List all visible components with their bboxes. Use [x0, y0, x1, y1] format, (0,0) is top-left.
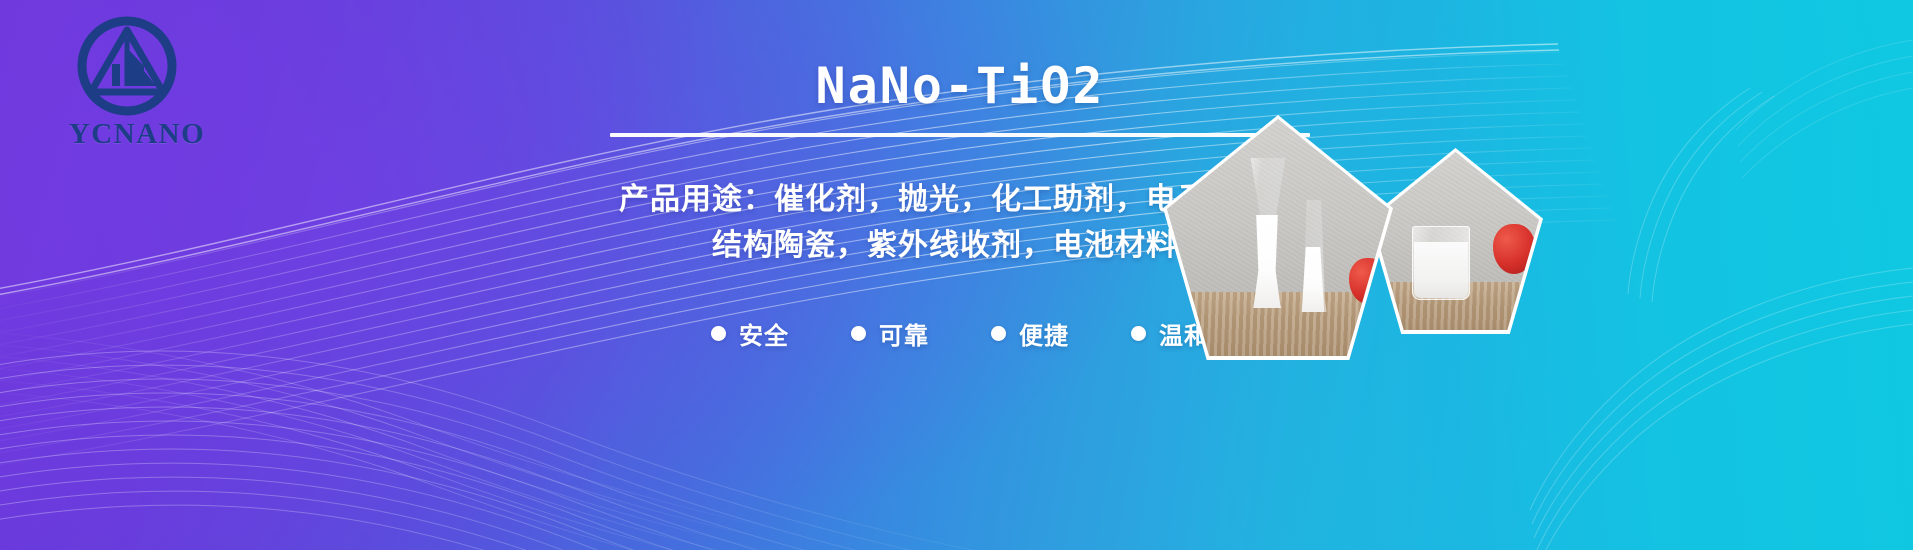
brand-wordmark: YCNANO — [52, 118, 222, 151]
dot-icon — [991, 326, 1006, 341]
dot-icon — [711, 326, 726, 341]
page-title: NaNo-TiO2 — [470, 60, 1450, 113]
feature-item-reliable: 可靠 — [851, 316, 929, 351]
dot-icon — [851, 326, 866, 341]
feature-item-safe: 安全 — [711, 316, 789, 351]
feature-label: 安全 — [739, 316, 789, 351]
mountain-in-circle-logo-icon — [68, 14, 186, 118]
title-divider — [610, 133, 1310, 137]
feature-label: 可靠 — [879, 316, 929, 351]
feature-item-convenient: 便捷 — [991, 316, 1069, 351]
brand-logo[interactable]: YCNANO — [52, 14, 222, 149]
product-banner: YCNANO NaNo-TiO2 产品用途：催化剂，抛光，化工助剂，电子陶瓷， … — [0, 0, 1913, 550]
feature-label: 便捷 — [1019, 316, 1069, 351]
dot-icon — [1131, 326, 1146, 341]
